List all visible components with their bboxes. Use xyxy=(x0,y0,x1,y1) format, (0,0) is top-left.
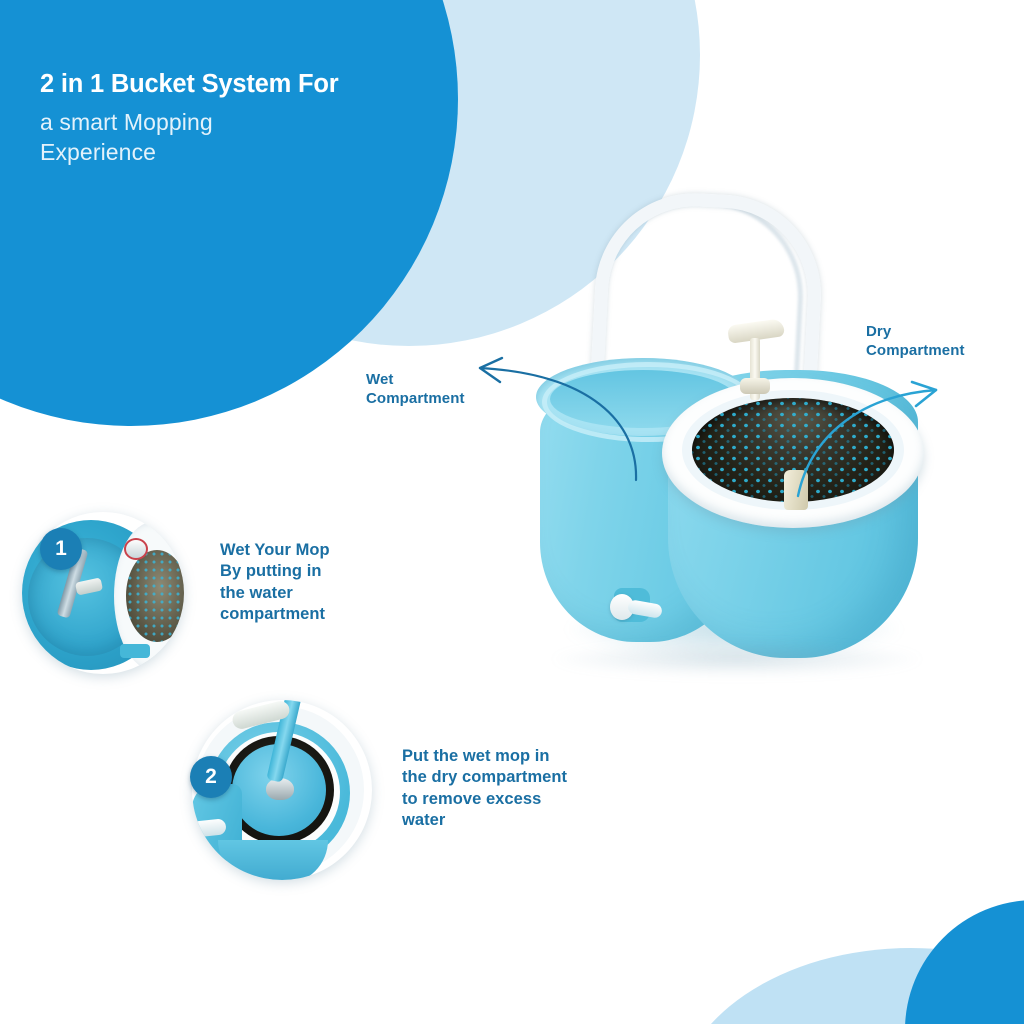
step-2-description: Put the wet mop in the dry compartment t… xyxy=(402,746,622,832)
step-2-bucket-base xyxy=(218,840,328,880)
callout-arrow-wet-icon xyxy=(440,352,640,482)
headline-secondary-line2: Experience xyxy=(40,137,460,167)
callout-label-dry-compartment: Dry Compartment xyxy=(866,322,1024,360)
callout-dry-line1: Dry xyxy=(866,323,891,340)
soap-dispenser-collar xyxy=(740,378,770,394)
callout-dry-line2: Compartment xyxy=(866,342,965,359)
headline-block: 2 in 1 Bucket System For a smart Mopping… xyxy=(40,72,460,167)
step-1-spinner-basket xyxy=(126,550,184,642)
step-1-spinner-perforations xyxy=(126,550,184,642)
callout-wet-line1: Wet xyxy=(366,371,394,388)
step-1-line2: By putting in xyxy=(220,562,321,580)
headline-secondary-line1: a smart Mopping xyxy=(40,107,460,137)
step-1-line1: Wet Your Mop xyxy=(220,541,330,559)
step-2-line4: water xyxy=(402,811,445,829)
step-2-line3: to remove excess xyxy=(402,790,541,808)
step-2-number-badge: 2 xyxy=(190,756,232,798)
step-1-line4: compartment xyxy=(220,605,325,623)
step-1-spout xyxy=(120,644,150,658)
step-1: 1 Wet Your Mop By putting in the water c… xyxy=(22,512,382,682)
step-2: 2 Put the wet mop in the dry compartment… xyxy=(180,700,640,880)
decorative-circle-brand-top xyxy=(0,0,458,426)
step-1-line3: the water xyxy=(220,584,293,602)
step-2-line2: the dry compartment xyxy=(402,768,567,786)
infographic-canvas: 2 in 1 Bucket System For a smart Mopping… xyxy=(0,0,1024,1024)
product-ground-shadow xyxy=(552,642,922,676)
callout-arrow-dry-icon xyxy=(788,380,948,500)
step-1-valve-knob xyxy=(124,538,148,560)
step-2-line1: Put the wet mop in xyxy=(402,747,550,765)
step-1-number-badge: 1 xyxy=(40,528,82,570)
decorative-circle-brand-bottom xyxy=(905,900,1024,1024)
headline-primary: 2 in 1 Bucket System For xyxy=(40,72,460,98)
step-1-description: Wet Your Mop By putting in the water com… xyxy=(220,540,400,626)
